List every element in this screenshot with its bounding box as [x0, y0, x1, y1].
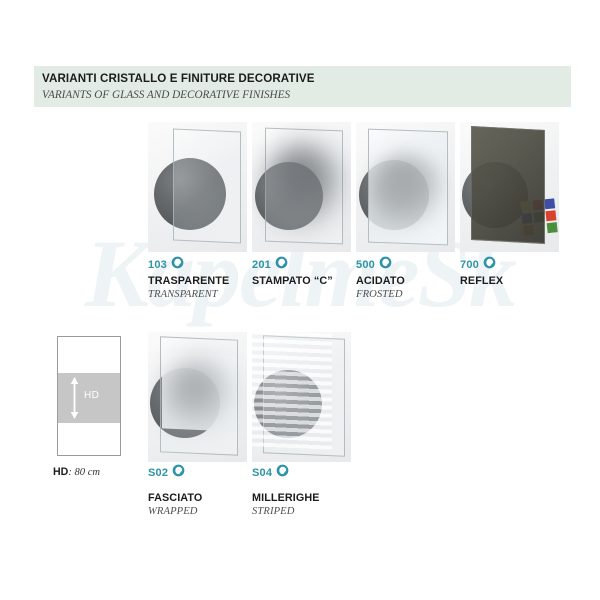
code-row: 700	[460, 258, 503, 272]
catalog-page: VARIANTI CRISTALLO E FINITURE DECORATIVE…	[0, 0, 600, 600]
stripe-texture	[252, 332, 332, 450]
code-row: 500	[356, 258, 405, 272]
sample-photo-S04[interactable]	[252, 332, 351, 462]
sample-code: 700	[460, 259, 479, 271]
swatch-9	[546, 222, 557, 233]
sample-name-it: ACIDATO	[356, 275, 405, 287]
diffusion-blur	[370, 154, 442, 226]
code-row: 201	[252, 258, 333, 272]
page-title: VARIANTI CRISTALLO E FINITURE DECORATIVE	[42, 72, 315, 85]
hd-caption-bold: HD	[53, 466, 68, 478]
sample-code: 103	[148, 259, 167, 271]
sample-name-en: STRIPED	[252, 506, 320, 517]
glass-panel	[173, 129, 241, 244]
hd-band-label: HD	[84, 390, 99, 401]
caption-S04: S04 MILLERIGHE STRIPED	[252, 466, 320, 517]
sample-name-it: REFLEX	[460, 275, 503, 287]
sample-code: 201	[252, 259, 271, 271]
drop-icon	[379, 256, 392, 274]
code-row: S02	[148, 466, 202, 480]
sample-name-it: TRASPARENTE	[148, 275, 229, 287]
sample-name-en: WRAPPED	[148, 506, 202, 517]
caption-700: 700 REFLEX	[460, 258, 503, 289]
page-subtitle: VARIANTS OF GLASS AND DECORATIVE FINISHE…	[42, 89, 290, 101]
hd-caption: HD: 80 cm	[53, 466, 100, 478]
caption-S02: S02 FASCIATO WRAPPED	[148, 466, 202, 517]
sample-photo-201[interactable]	[252, 122, 351, 252]
caption-103: 103 TRASPARENTE TRANSPARENT	[148, 258, 229, 300]
swatch-6	[545, 210, 556, 221]
drop-icon	[483, 256, 496, 274]
sample-photo-500[interactable]	[356, 122, 455, 252]
swatch-3	[544, 198, 555, 209]
sample-code: S04	[252, 467, 272, 479]
diffusion-blur	[266, 144, 340, 228]
hd-caption-italic: : 80 cm	[68, 467, 100, 478]
diffusion-blur	[164, 360, 230, 426]
sample-name-it: MILLERIGHE	[252, 492, 320, 504]
sample-name-it: FASCIATO	[148, 492, 202, 504]
drop-icon	[276, 464, 289, 482]
code-row: 103	[148, 258, 229, 272]
sample-name-it: STAMPATO “C”	[252, 275, 333, 287]
caption-500: 500 ACIDATO FROSTED	[356, 258, 405, 300]
sample-name-en: TRANSPARENT	[148, 289, 229, 300]
sample-code: 500	[356, 259, 375, 271]
glass-panel	[471, 126, 545, 244]
sample-photo-700[interactable]	[460, 122, 559, 252]
drop-icon	[275, 256, 288, 274]
hd-diagram: HD	[57, 336, 121, 456]
sample-code: S02	[148, 467, 168, 479]
caption-201: 201 STAMPATO “C”	[252, 258, 333, 289]
drop-icon	[172, 464, 185, 482]
sample-photo-103[interactable]	[148, 122, 247, 252]
sample-name-en: FROSTED	[356, 289, 405, 300]
code-row: S04	[252, 466, 320, 480]
sample-photo-S02[interactable]	[148, 332, 247, 462]
double-arrow-vertical-icon	[69, 376, 80, 420]
drop-icon	[171, 256, 184, 274]
